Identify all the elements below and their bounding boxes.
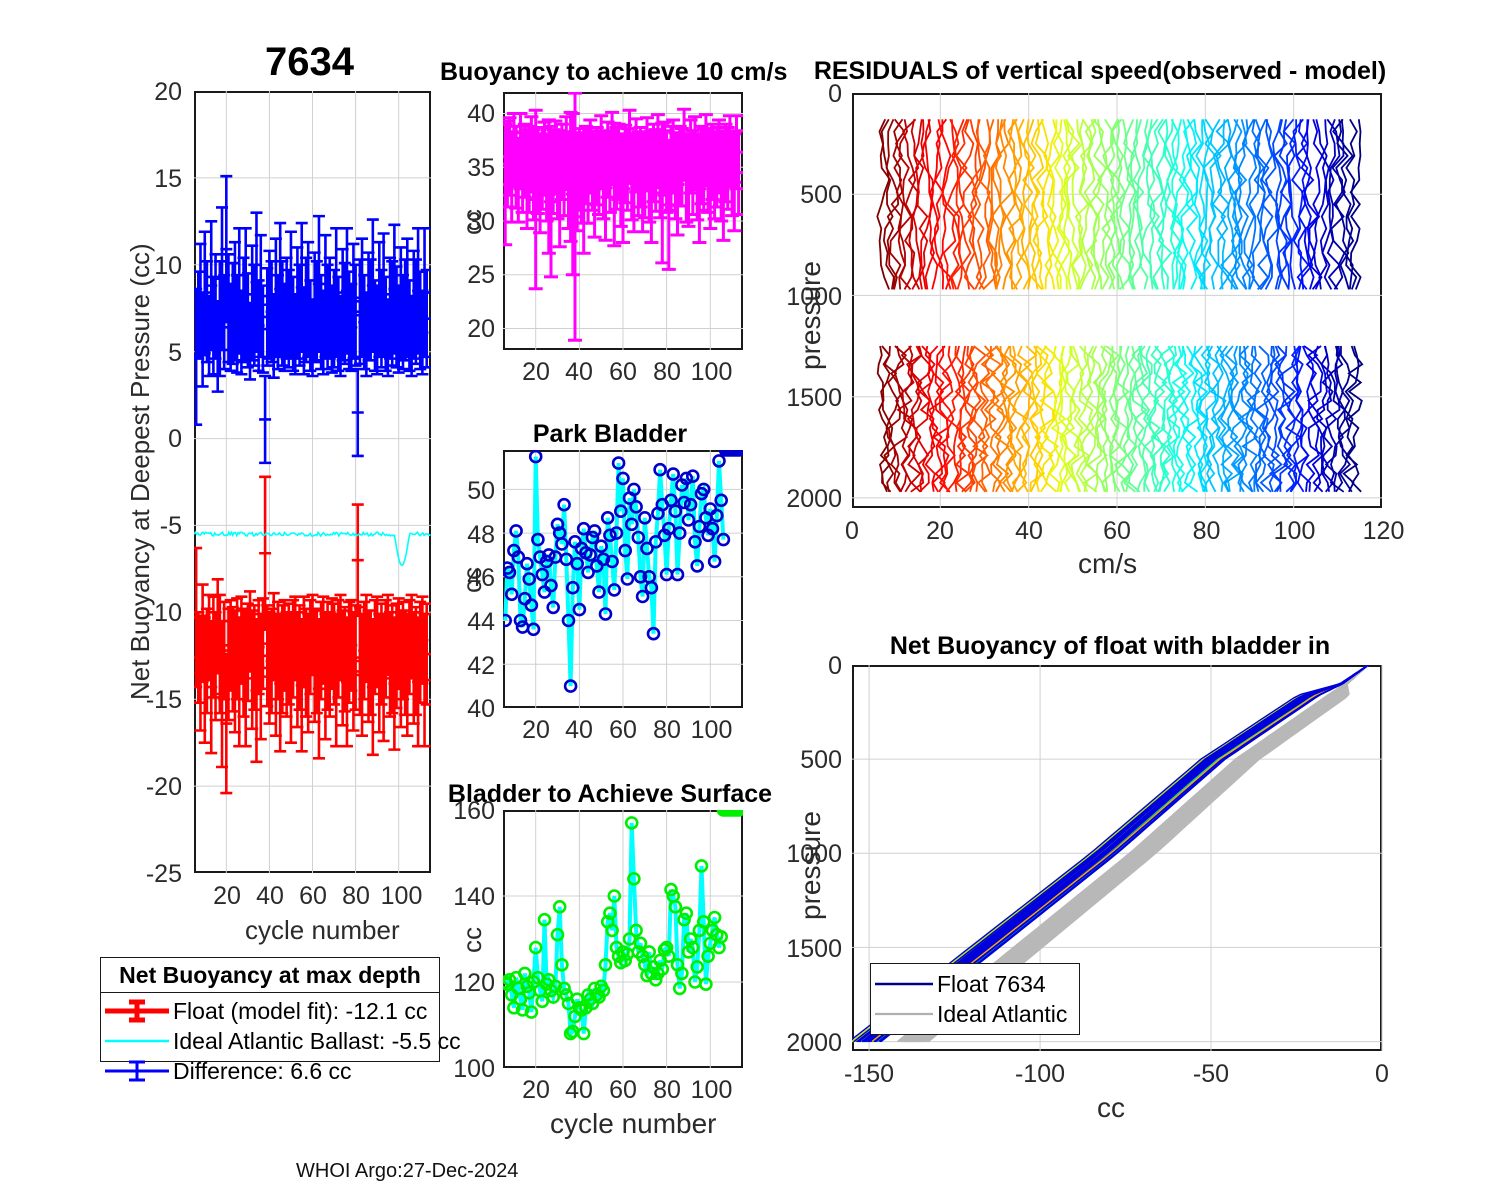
xlabel-net-buoyancy-bladder-in: cc	[1097, 1092, 1125, 1124]
xtick-nbbi-3: 0	[1347, 1060, 1417, 1089]
xtick-net-buoy-2: 60	[298, 882, 328, 911]
plot-canvas-net-buoyancy	[194, 91, 431, 873]
footer-credit: WHOI Argo:27-Dec-2024	[296, 1160, 518, 1183]
xtick-surf-3: 80	[652, 1076, 682, 1105]
legend-swatch-ideal-atlantic	[871, 1002, 937, 1026]
legend-swatch-ideal-ballast-line	[101, 1028, 173, 1054]
legend-item-ideal-ballast[interactable]: Ideal Atlantic Ballast: -5.5 cc	[101, 1026, 439, 1056]
legend-label-ideal-atlantic: Ideal Atlantic	[937, 1001, 1067, 1028]
legend-swatch-float-7634	[871, 972, 937, 996]
panel-net-buoyancy-deepest: 20 15 10 5 0 -5 -10 -15 -20 -25 20 40 60…	[0, 0, 460, 950]
legend-title: Net Buoyancy at max depth	[101, 958, 439, 993]
xtick-nbbi-0: -150	[834, 1060, 904, 1089]
xlabel-bladder-surface: cycle number	[550, 1108, 717, 1140]
ytick-surf-3: 100	[435, 1055, 495, 1084]
ytick-surf-1: 140	[435, 883, 495, 912]
xtick-surf-4: 100	[689, 1076, 734, 1105]
ytick-nbbi-0: 0	[770, 652, 842, 681]
legend-swatch-difference-errorbar	[101, 1058, 173, 1084]
legend-swatch-float-errorbar	[101, 998, 173, 1024]
ytick-nbbi-4: 2000	[770, 1029, 842, 1058]
ytick-surf-2: 120	[435, 969, 495, 998]
legend-label-float-7634: Float 7634	[937, 971, 1046, 998]
xlabel-net-buoyancy: cycle number	[245, 915, 400, 946]
ylabel-bladder-surface: cc	[457, 927, 488, 953]
legend-item-ideal-atlantic[interactable]: Ideal Atlantic	[871, 999, 1079, 1029]
ytick-net-buoy-0: 20	[130, 78, 182, 107]
legend-label-ideal-ballast: Ideal Atlantic Ballast: -5.5 cc	[173, 1028, 461, 1055]
ytick-surf-0: 160	[435, 797, 495, 826]
ytick-net-buoy-1: 15	[130, 165, 182, 194]
xtick-surf-2: 60	[608, 1076, 638, 1105]
legend-item-float-7634[interactable]: Float 7634	[871, 969, 1079, 999]
xtick-surf-1: 40	[564, 1076, 594, 1105]
legend-net-buoyancy-max-depth: Net Buoyancy at max depth Float (model f…	[100, 957, 440, 1062]
xtick-surf-0: 20	[521, 1076, 551, 1105]
ytick-nbbi-1: 500	[770, 746, 842, 775]
panel-bladder-surface: Bladder to Achieve Surface 160 140 120 1…	[440, 0, 770, 1140]
plot-canvas-bladder-surface	[503, 810, 743, 1068]
ylabel-net-buoyancy-bladder-in: pressure	[795, 811, 827, 920]
legend-label-difference: Difference: 6.6 cc	[173, 1058, 352, 1085]
title-net-buoyancy-bladder-in: Net Buoyancy of float with bladder in	[800, 632, 1420, 661]
ytick-net-buoy-9: -25	[130, 860, 182, 889]
xtick-net-buoy-4: 100	[379, 882, 424, 911]
xtick-net-buoy-1: 40	[255, 882, 285, 911]
xtick-net-buoy-3: 80	[341, 882, 371, 911]
panel-net-buoyancy-bladder-in: Net Buoyancy of float with bladder in 0 …	[760, 0, 1460, 1140]
ylabel-net-buoyancy: Net Buoyancy at Deepest Pressure (cc)	[125, 243, 156, 700]
legend-item-float[interactable]: Float (model fit): -12.1 cc	[101, 996, 439, 1026]
legend-label-float: Float (model fit): -12.1 cc	[173, 998, 427, 1025]
xtick-net-buoy-0: 20	[212, 882, 242, 911]
legend-float-ideal: Float 7634 Ideal Atlantic	[870, 963, 1080, 1035]
ytick-nbbi-3: 1500	[770, 935, 842, 964]
xtick-nbbi-2: -50	[1176, 1060, 1246, 1089]
ytick-net-buoy-8: -20	[130, 773, 182, 802]
legend-item-difference[interactable]: Difference: 6.6 cc	[101, 1056, 439, 1086]
xtick-nbbi-1: -100	[1005, 1060, 1075, 1089]
